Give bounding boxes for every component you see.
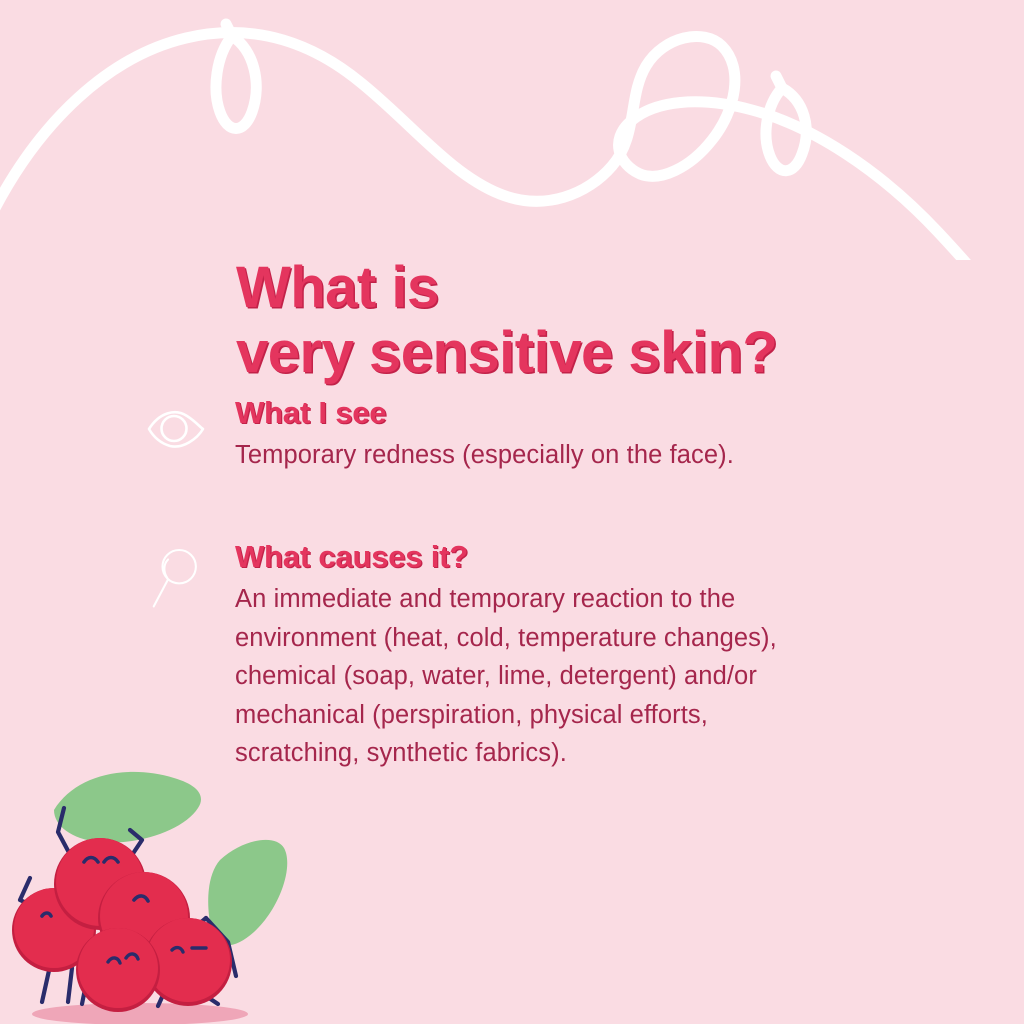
page-title: What is very sensitive skin?	[236, 255, 956, 386]
section-text: Temporary redness (especially on the fac…	[235, 436, 930, 475]
section-text-line: An immediate and temporary reaction to t…	[235, 580, 930, 619]
vine-decoration	[0, 0, 1024, 260]
berry-middle	[98, 872, 190, 964]
section-text: An immediate and temporary reaction to t…	[235, 580, 930, 773]
section-heading: What I see	[235, 396, 930, 430]
section-body: What I see Temporary redness (especially…	[235, 396, 930, 475]
berry-mid-left	[12, 888, 96, 972]
section-text-line: scratching, synthetic fabrics).	[235, 734, 930, 773]
section-text-line: chemical (soap, water, lime, detergent) …	[235, 657, 930, 696]
leaf-right	[208, 840, 287, 946]
berry-bottom-right	[144, 918, 232, 1006]
leaf-upper	[54, 772, 201, 843]
berry-bottom-center	[76, 928, 160, 1012]
page-title-line-2: very sensitive skin?	[236, 320, 956, 386]
berry-mascots-illustration	[0, 752, 302, 1024]
section-text-line: environment (heat, cold, temperature cha…	[235, 619, 930, 658]
berry-top	[54, 838, 146, 930]
section-body: What causes it? An immediate and tempora…	[235, 540, 930, 773]
section-what-causes-it: What causes it? An immediate and tempora…	[140, 540, 930, 773]
section-text-line: Temporary redness (especially on the fac…	[235, 436, 930, 475]
infographic-card: What is very sensitive skin? What I see …	[0, 0, 1024, 1024]
magnifying-glass-icon	[145, 546, 207, 608]
eye-icon	[145, 398, 207, 460]
section-text-line: mechanical (perspiration, physical effor…	[235, 696, 930, 735]
section-heading: What causes it?	[235, 540, 930, 574]
section-what-i-see: What I see Temporary redness (especially…	[140, 396, 930, 475]
mascot-shadow	[32, 1003, 248, 1024]
page-title-line-1: What is	[236, 255, 956, 321]
